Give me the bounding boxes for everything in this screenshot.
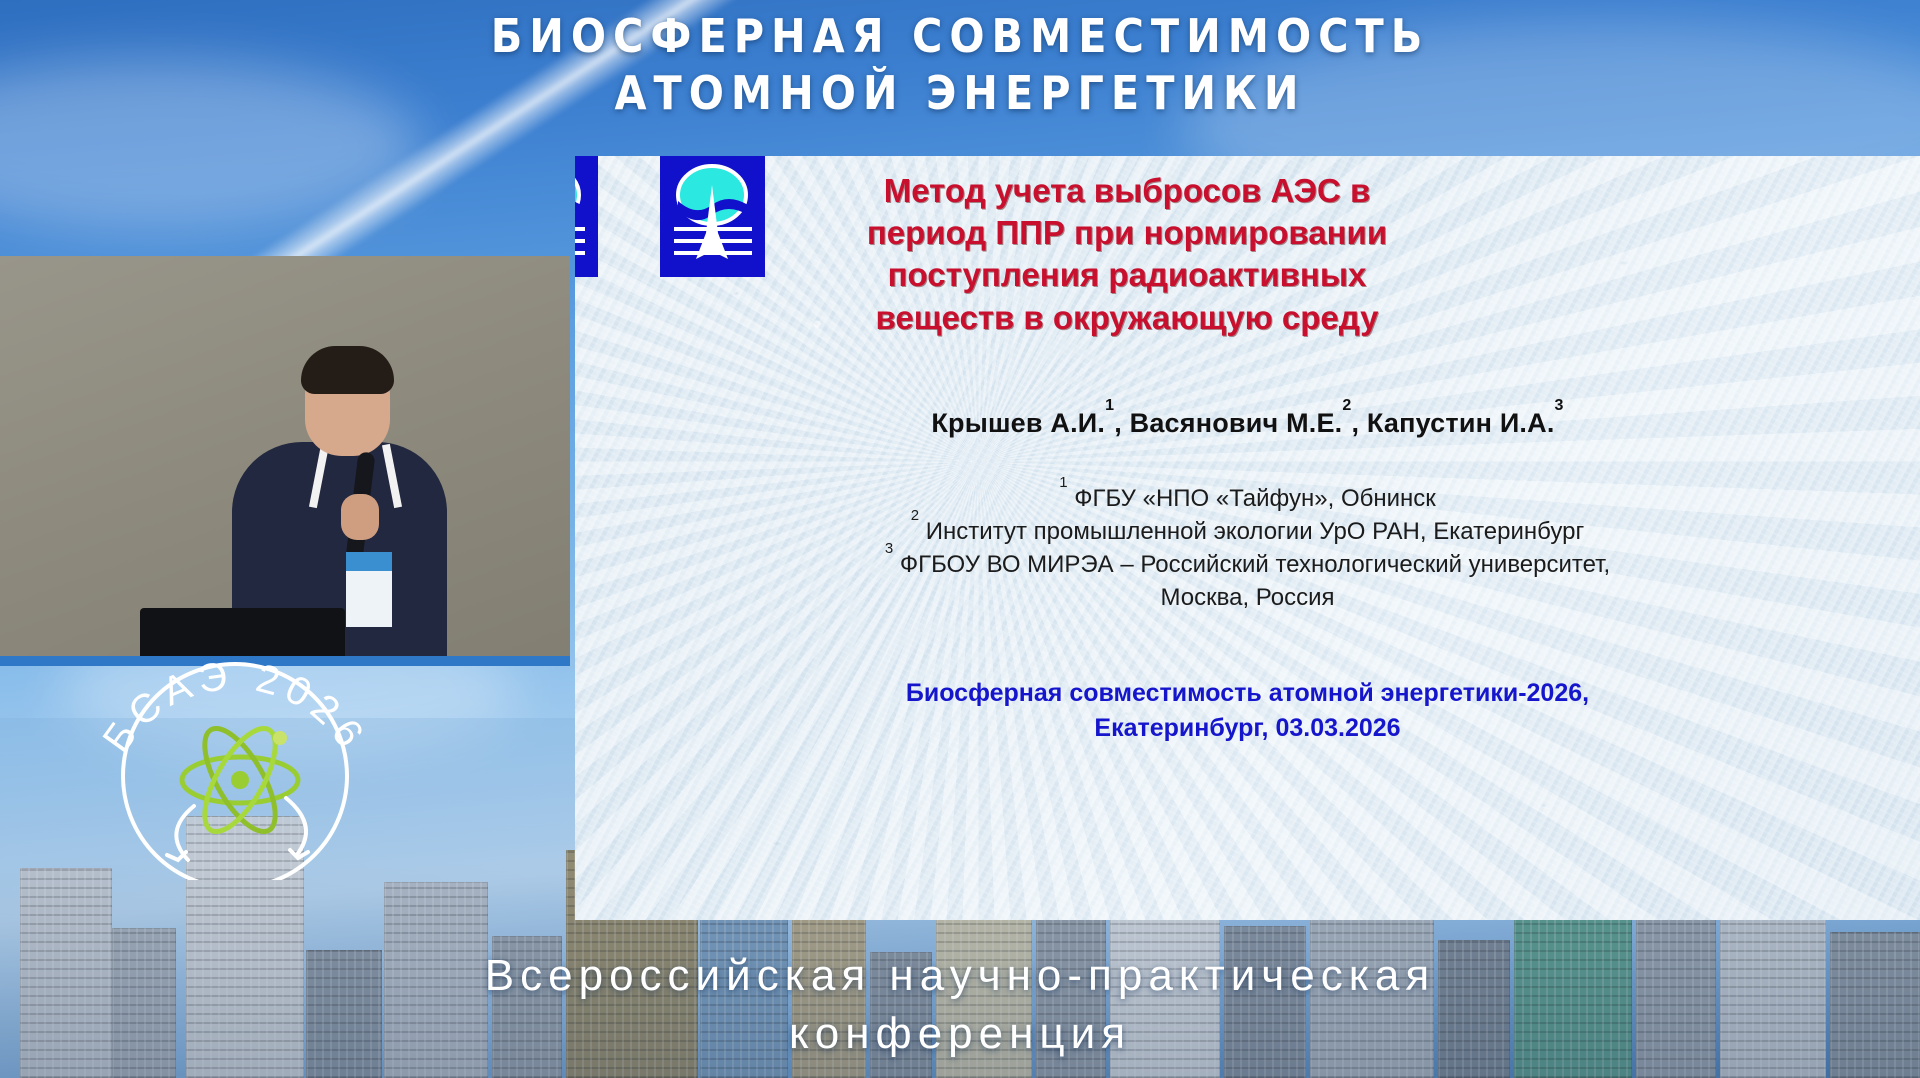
slide-title: Метод учета выбросов АЭС в период ППР пр… <box>747 170 1507 339</box>
author-sep: , <box>1352 408 1367 438</box>
slide-stage: БИОСФЕРНАЯ СОВМЕСТИМОСТЬ АТОМНОЙ ЭНЕРГЕТ… <box>0 0 1920 1078</box>
conference-footer-title: Всероссийская научно-практическая конфер… <box>0 947 1920 1064</box>
conference-header-title: БИОСФЕРНАЯ СОВМЕСТИМОСТЬ АТОМНОЙ ЭНЕРГЕТ… <box>0 8 1920 122</box>
affiliations-block: 1 ФГБУ «НПО «Тайфун», Обнинск 2 Институт… <box>575 482 1920 614</box>
atom-icon <box>182 718 298 841</box>
affiliation-sup: 1 <box>1059 474 1067 491</box>
author-sup: 2 <box>1342 397 1351 414</box>
affiliation-text: ФГБОУ ВО МИРЭА – Российский технологичес… <box>900 551 1610 578</box>
affiliation-city-line: Москва, Россия <box>575 581 1920 614</box>
author-sup: 3 <box>1555 397 1564 414</box>
author-name: Капустин И.А. <box>1367 408 1555 438</box>
affiliation-item: 1 ФГБУ «НПО «Тайфун», Обнинск <box>575 482 1920 515</box>
affiliation-item: 3 ФГБОУ ВО МИРЭА – Российский технологич… <box>575 548 1920 581</box>
slide-content-panel: Метод учета выбросов АЭС в период ППР пр… <box>575 156 1920 920</box>
bsae-2026-emblem: БСАЭ 2026 <box>90 600 380 880</box>
conference-reference: Биосферная совместимость атомной энергет… <box>575 676 1920 745</box>
organization-logos <box>575 156 753 285</box>
affiliation-item: 2 Институт промышленной экологии УрО РАН… <box>575 515 1920 548</box>
author-name: Крышев А.И. <box>931 408 1105 438</box>
affiliation-sup: 2 <box>911 507 919 524</box>
affiliation-text: Институт промышленной экологии УрО РАН, … <box>926 518 1584 545</box>
npo-typhoon-logo <box>575 156 598 277</box>
author-name: Васянович М.Е. <box>1130 408 1343 438</box>
author-sup: 1 <box>1105 397 1114 414</box>
affiliation-text: ФГБУ «НПО «Тайфун», Обнинск <box>1074 485 1436 512</box>
speaker-hair <box>301 346 394 394</box>
author-sep: , <box>1114 408 1129 438</box>
authors-line: Крышев А.И.1, Васянович М.Е.2, Капустин … <box>575 408 1920 439</box>
speaker-hand <box>341 494 379 540</box>
affiliation-sup: 3 <box>885 540 893 557</box>
